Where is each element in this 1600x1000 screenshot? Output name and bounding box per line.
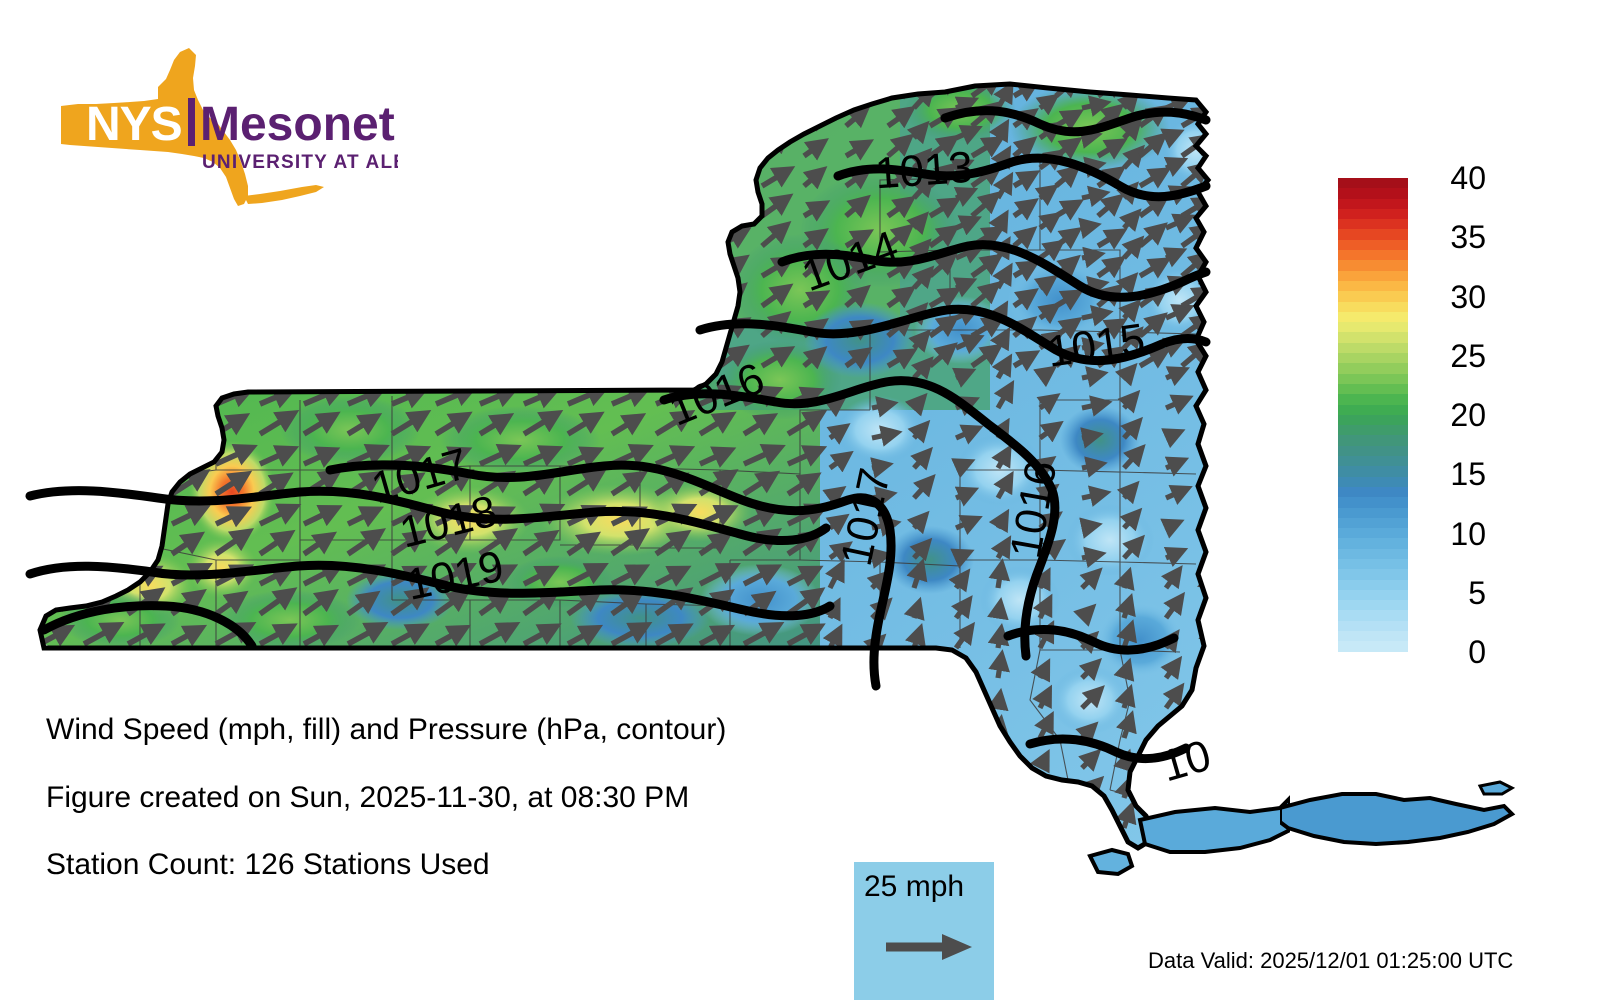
wind-vector [914,813,919,828]
wind-vector [914,657,921,678]
wind-vector [1250,187,1265,198]
wind-vector [40,390,74,405]
wind-vector [84,533,115,554]
colorbar-band [1338,538,1408,548]
colorbar-band [1338,199,1408,209]
wind-vector [172,451,200,464]
wind-vector [1250,598,1260,619]
wind-vector [872,757,883,768]
colorbar-band [1338,446,1408,456]
wind-vector [1208,240,1219,258]
colorbar-gradient [1338,178,1408,652]
wind-vector [1208,278,1214,288]
colorbar-tick-15: 15 [1422,458,1486,490]
colorbar-band [1338,610,1408,620]
wind-vector [720,142,744,156]
colorbar-band [1338,456,1408,466]
wind-vector [1208,395,1216,408]
wind-vector [1208,213,1217,228]
wind-vector [1208,783,1210,798]
wind-vector [872,694,886,708]
wind-vector [1250,779,1260,798]
colorbar-band [1338,332,1408,342]
wind-vector [1208,627,1211,648]
wind-vector [998,813,1000,828]
wind-vector [872,721,889,738]
wind-vector [998,631,1001,648]
wind-vector [1250,636,1256,649]
colorbar-band [1338,631,1408,641]
wind-vector [84,391,115,404]
wind-vector [1082,135,1095,138]
colorbar-band [1338,219,1408,229]
wind-vector [956,810,969,828]
wind-vector [998,566,1001,588]
wind-vector [720,108,741,126]
wind-vector [720,170,743,186]
wind-vector [914,787,918,798]
colorbar-band [1338,487,1408,497]
wind-vector [872,785,885,798]
colorbar-band [1338,600,1408,610]
colorbar-band [1338,250,1408,260]
wind-vector [1082,255,1098,258]
wind-vector [1250,250,1261,258]
wind-vector [1250,277,1265,288]
wind-vector [1082,525,1095,528]
wind-vector [40,537,66,554]
colorbar-band [1338,322,1408,332]
wind-vector [1208,601,1211,618]
wind-vector [1208,149,1219,168]
contour-label: 1013 [873,143,974,199]
wind-vector [1208,692,1211,708]
wind-vector [172,416,201,434]
wind-vector [1208,422,1218,439]
colorbar-band [1338,621,1408,631]
wind-vector [1208,718,1211,738]
wind-vector [720,198,741,216]
wind-vector [872,465,886,468]
colorbar-band [1338,641,1408,651]
colorbar-band [1338,291,1408,301]
wind-vector [998,696,1000,708]
colorbar-band [1338,343,1408,353]
colorbar-band [1338,580,1408,590]
wind-vector [1082,555,1099,559]
wind-vector [956,783,967,798]
wind-vector [1250,726,1256,738]
colorbar-band [1338,240,1408,250]
wind-vector [1250,662,1258,678]
colorbar-tick-labels: 4035302520151050 [1422,178,1572,652]
colorbar-band [1338,209,1408,219]
wind-vector [1082,818,1092,828]
caption-created: Figure created on Sun, 2025-11-30, at 08… [46,782,866,814]
wind-vector [956,693,967,708]
colorbar-band [1338,188,1408,198]
colorbar-band [1338,508,1408,518]
colorbar-band [1338,466,1408,476]
wind-vector [762,81,788,96]
wind-vector [172,390,206,405]
wind-vector [1250,688,1260,708]
colorbar-tick-0: 0 [1422,636,1486,668]
colorbar-band [1338,497,1408,507]
wind-vector [804,82,821,96]
wind-vector [1250,305,1268,318]
colorbar-band [1338,528,1408,538]
wind-vector-legend: 25 mph [854,862,994,1000]
colorbar-band [1338,435,1408,445]
wind-vector [1250,486,1266,498]
colorbar-band [1338,549,1408,559]
colorbar-tick-10: 10 [1422,518,1486,550]
wind-vector [956,757,964,768]
colorbar-band [1338,271,1408,281]
wind-vector [1040,783,1048,798]
wind-vector [762,109,786,127]
colorbar-band [1338,559,1408,569]
wind-vector [830,658,840,679]
colorbar-tick-25: 25 [1422,340,1486,372]
wind-vector [872,812,888,828]
wind-vector [914,722,919,738]
wind-vector [128,415,160,434]
colorbar-band [1338,281,1408,291]
wind-vector [1250,340,1261,348]
wind-vector [1082,226,1094,229]
wind-vector [914,748,921,768]
wind-speed-colorbar: 4035302520151050 [1338,178,1578,656]
colorbar-band [1338,374,1408,384]
colorbar-band [1338,178,1408,188]
colorbar-band [1338,384,1408,394]
wind-vector [998,774,1002,798]
wind-vector [40,416,69,434]
wind-vector [1082,464,1100,468]
colorbar-tick-20: 20 [1422,399,1486,431]
wind-vector [998,748,1001,768]
wind-vector [1208,448,1220,468]
wind-vector [1208,486,1215,498]
wind-vector [1208,575,1210,588]
wind-vector [128,535,156,554]
colorbar-band [1338,353,1408,363]
wind-vector [1208,357,1220,378]
colorbar-band [1338,518,1408,528]
wind-vector [128,392,157,404]
wind-vector [1250,431,1260,438]
colorbar-tick-5: 5 [1422,577,1486,609]
wind-vector [720,80,743,96]
caption-title: Wind Speed (mph, fill) and Pressure (hPa… [46,714,866,746]
colorbar-band [1338,425,1408,435]
wind-vector [84,511,112,525]
wind-vector [1208,122,1217,138]
wind-vector [1208,96,1215,108]
wind-vector [830,696,836,709]
wind-vector [1166,727,1174,738]
wind-vector [1250,571,1259,588]
wind-vector [956,719,970,738]
colorbar-tick-30: 30 [1422,281,1486,313]
wind-vector [914,696,918,708]
colorbar-band [1338,590,1408,600]
colorbar-band [1338,260,1408,270]
colorbar-band [1338,477,1408,487]
figure-caption: Wind Speed (mph, fill) and Pressure (hPa… [46,714,866,917]
wind-vector [1250,368,1264,378]
colorbar-tick-35: 35 [1422,221,1486,253]
wind-vector [1250,459,1263,468]
colorbar-band [1338,229,1408,239]
wind-vector [1182,77,1205,96]
wind-vector [1208,512,1217,528]
wind-vector [1250,514,1269,528]
colorbar-band [1338,394,1408,404]
wind-vector [998,605,1000,618]
figure-canvas: NYS Mesonet UNIVERSITY AT ALBANY [0,0,1600,1000]
wind-vector [1250,96,1266,108]
wind-vector [1250,753,1258,768]
wind-vector [1208,539,1219,558]
wind-vector [846,82,866,96]
colorbar-band [1338,312,1408,322]
wind-vector [1250,215,1269,229]
wind-vector [1040,809,1050,828]
wind-vector [84,418,111,434]
wind-vector [998,657,1001,678]
caption-station-count: Station Count: 126 Stations Used [46,849,866,881]
contour-label: 10 [1156,731,1217,792]
vector-legend-label: 25 mph [864,870,964,904]
wind-vector [128,508,161,524]
colorbar-band [1338,405,1408,415]
wind-vector [1250,549,1262,558]
colorbar-band [1338,302,1408,312]
wind-vector [1250,159,1262,168]
wind-vector [84,449,118,464]
wind-vector [956,666,965,678]
colorbar-band [1338,569,1408,579]
wind-vector [40,509,71,524]
vector-legend-arrow-icon [884,930,974,964]
wind-vector [1250,124,1269,138]
wind-vector [1208,666,1210,678]
wind-vector [1250,396,1267,408]
wind-vector [40,451,68,464]
colorbar-band [1338,415,1408,425]
long-island-east-extension [1280,780,1600,950]
wind-vector [1208,304,1216,318]
colorbar-tick-40: 40 [1422,162,1486,194]
wind-vector [1082,435,1096,438]
colorbar-band [1338,363,1408,373]
wind-vector [128,450,159,464]
data-valid-stamp: Data Valid: 2025/12/01 01:25:00 UTC [1148,948,1513,974]
